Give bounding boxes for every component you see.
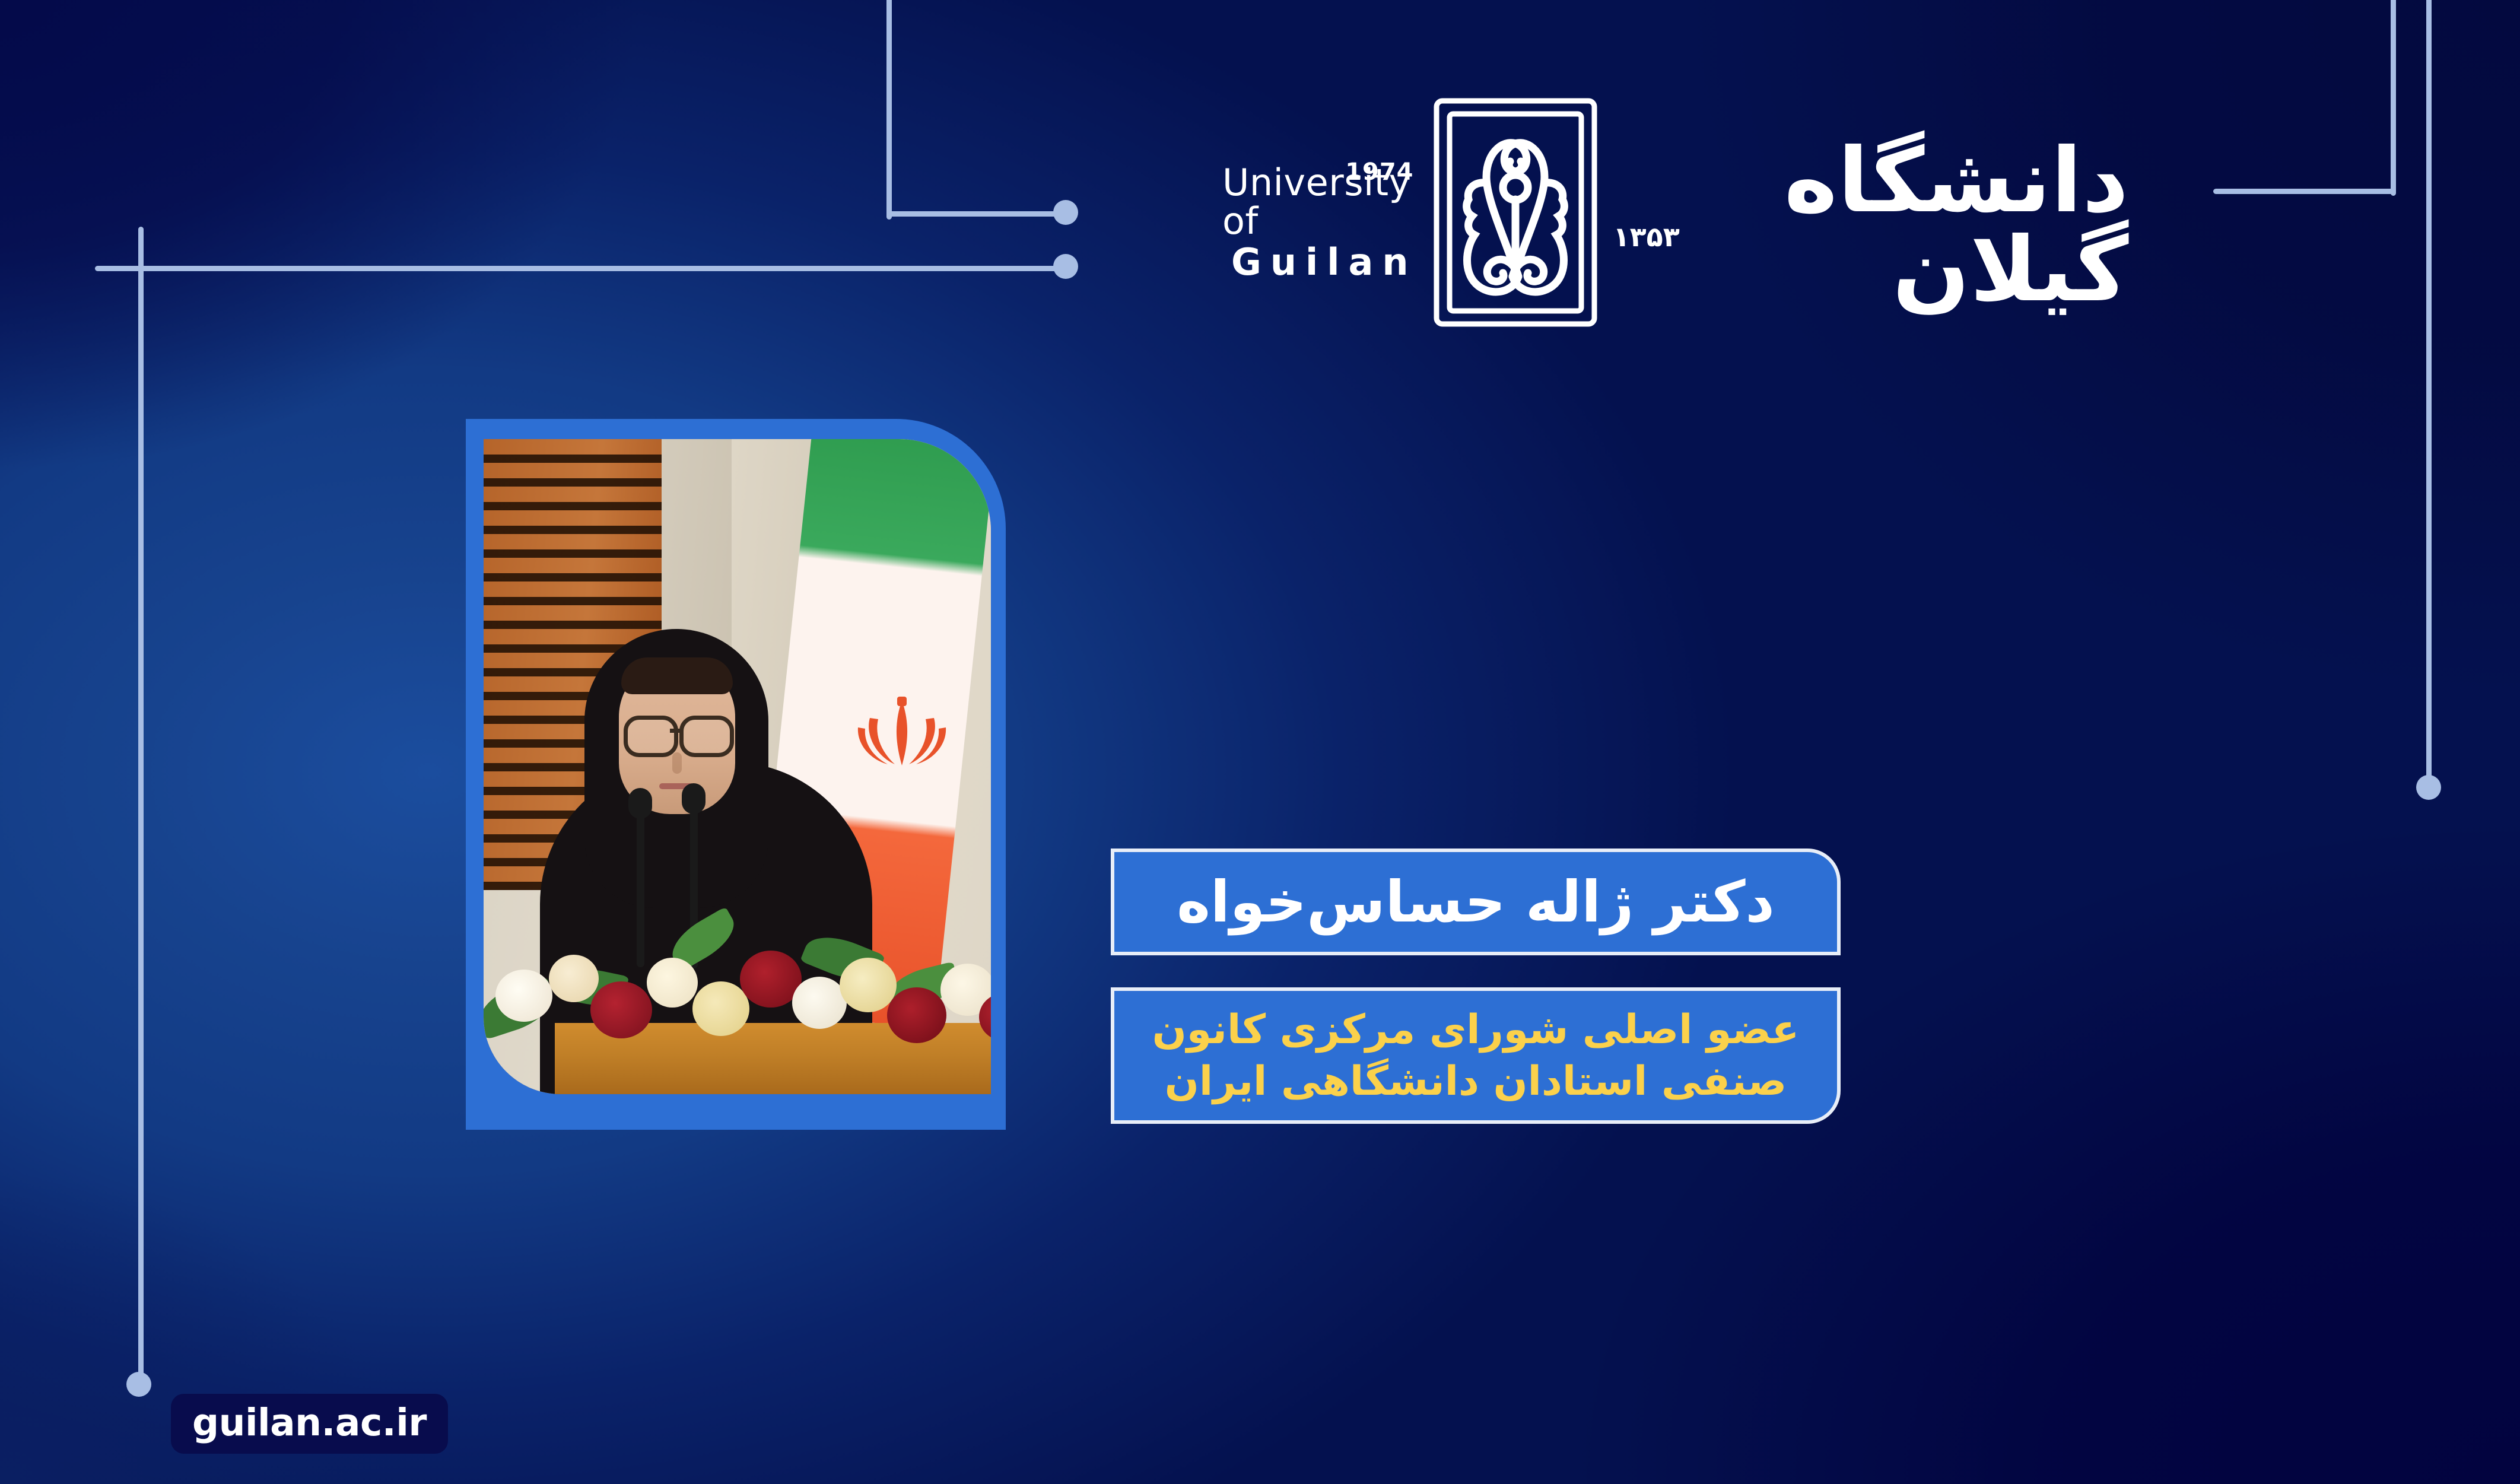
university-logo: 1974 University of Guilan ۱۳۵	[1222, 89, 2124, 338]
speaker-photo-frame	[466, 419, 1006, 1130]
decor-line-horizontal-right	[2213, 189, 2396, 194]
logo-year-persian: ۱۳۵۳	[1613, 221, 1680, 253]
speaker-name-banner: دکتر ژاله حساس‌خواه	[1111, 849, 1841, 955]
speaker-name: دکتر ژاله حساس‌خواه	[1177, 872, 1775, 932]
decor-dot-bottom-left	[126, 1372, 151, 1397]
poster-canvas: 1974 University of Guilan ۱۳۵	[0, 0, 2520, 1484]
photo-person-glasses-right	[679, 716, 734, 757]
speaker-role-banner: عضو اصلی شورای مرکزی کانون صنفی استادان …	[1111, 987, 1841, 1124]
decor-dot-top-left	[1053, 200, 1078, 225]
logo-year-english: 1974	[1345, 158, 1413, 186]
photo-person-hair	[621, 657, 733, 694]
decor-line-vertical-top-left	[886, 0, 892, 220]
decor-dot-right	[2416, 775, 2441, 800]
logo-persian-block: ۱۳۵۳ دانشگاه گیلان	[1613, 113, 2124, 314]
photo-flower-arrangement	[484, 898, 991, 1053]
speaker-photo	[484, 439, 991, 1094]
logo-name-persian: دانشگاه گیلان	[1683, 136, 2128, 314]
website-badge[interactable]: guilan.ac.ir	[171, 1394, 448, 1454]
guilan-university-emblem-icon	[1429, 94, 1601, 333]
photo-iran-flag-emblem-icon	[854, 694, 949, 771]
decor-line-vertical-left	[138, 227, 144, 1390]
logo-guilan-word: Guilan	[1222, 240, 1418, 284]
decor-line-horizontal-left	[95, 266, 1068, 271]
decor-line-horizontal-top-left	[886, 211, 1064, 217]
logo-english-block: 1974 University of Guilan	[1222, 143, 1418, 285]
photo-person-nose	[672, 752, 682, 774]
website-url: guilan.ac.ir	[192, 1401, 427, 1444]
decor-line-vertical-right-outer	[2426, 0, 2432, 789]
decor-dot-left-horizontal-end	[1053, 254, 1078, 279]
speaker-role: عضو اصلی شورای مرکزی کانون صنفی استادان …	[1130, 1004, 1822, 1107]
decor-line-vertical-right-inner	[2391, 0, 2396, 196]
photo-person-glasses-bridge	[670, 729, 683, 733]
photo-person-glasses-left	[624, 716, 678, 757]
